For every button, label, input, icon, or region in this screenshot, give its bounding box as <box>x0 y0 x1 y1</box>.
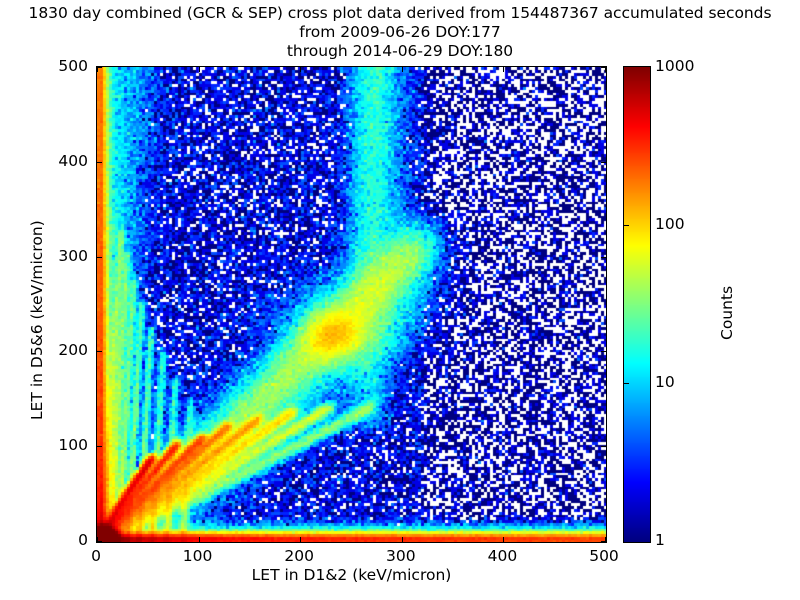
x-tick-label: 100 <box>183 547 213 565</box>
y-tick-label: 500 <box>58 57 88 75</box>
colorbar[interactable] <box>623 66 651 543</box>
y-tick-mark <box>97 541 102 542</box>
density-heatmap <box>97 67 606 542</box>
figure-title: 1830 day combined (GCR & SEP) cross plot… <box>0 4 800 61</box>
plot-axes[interactable] <box>96 66 607 543</box>
y-tick-mark <box>601 257 606 258</box>
y-tick-label: 100 <box>58 436 88 454</box>
title-line-1: 1830 day combined (GCR & SEP) cross plot… <box>0 4 800 23</box>
y-tick-mark <box>601 541 606 542</box>
colorbar-tick-mark <box>624 383 629 384</box>
x-tick-label: 400 <box>488 547 518 565</box>
y-tick-mark <box>601 67 606 68</box>
x-tick-mark <box>402 537 403 542</box>
colorbar-tick-label: 1000 <box>655 57 694 75</box>
y-tick-mark <box>601 446 606 447</box>
x-tick-label: 300 <box>386 547 416 565</box>
colorbar-tick-label: 100 <box>655 215 685 233</box>
y-tick-label: 400 <box>58 152 88 170</box>
y-tick-mark <box>97 351 102 352</box>
x-tick-mark <box>300 537 301 542</box>
y-tick-mark <box>601 162 606 163</box>
plot-figure: 1830 day combined (GCR & SEP) cross plot… <box>0 0 800 600</box>
colorbar-tick-label: 10 <box>655 373 675 391</box>
x-tick-label: 0 <box>91 547 101 565</box>
x-axis-label: LET in D1&2 (keV/micron) <box>96 566 607 584</box>
colorbar-tick-label: 1 <box>655 531 665 549</box>
x-tick-label: 200 <box>284 547 314 565</box>
y-tick-mark <box>97 257 102 258</box>
y-axis-label: LET in D5&6 (keV/micron) <box>28 220 46 420</box>
y-tick-mark <box>97 162 102 163</box>
y-tick-mark <box>97 67 102 68</box>
x-tick-mark <box>503 537 504 542</box>
y-tick-label: 200 <box>58 341 88 359</box>
x-tick-mark <box>199 67 200 72</box>
y-tick-mark <box>601 351 606 352</box>
colorbar-label: Counts <box>718 286 736 340</box>
colorbar-tick-mark <box>624 225 629 226</box>
x-tick-mark <box>503 67 504 72</box>
y-tick-label: 300 <box>58 247 88 265</box>
x-tick-label: 500 <box>589 547 619 565</box>
title-line-2: from 2009-06-26 DOY:177 <box>0 23 800 42</box>
colorbar-gradient <box>624 67 650 542</box>
x-tick-mark <box>199 537 200 542</box>
x-tick-mark <box>402 67 403 72</box>
y-tick-mark <box>97 446 102 447</box>
x-tick-mark <box>300 67 301 72</box>
y-tick-label: 0 <box>78 531 88 549</box>
